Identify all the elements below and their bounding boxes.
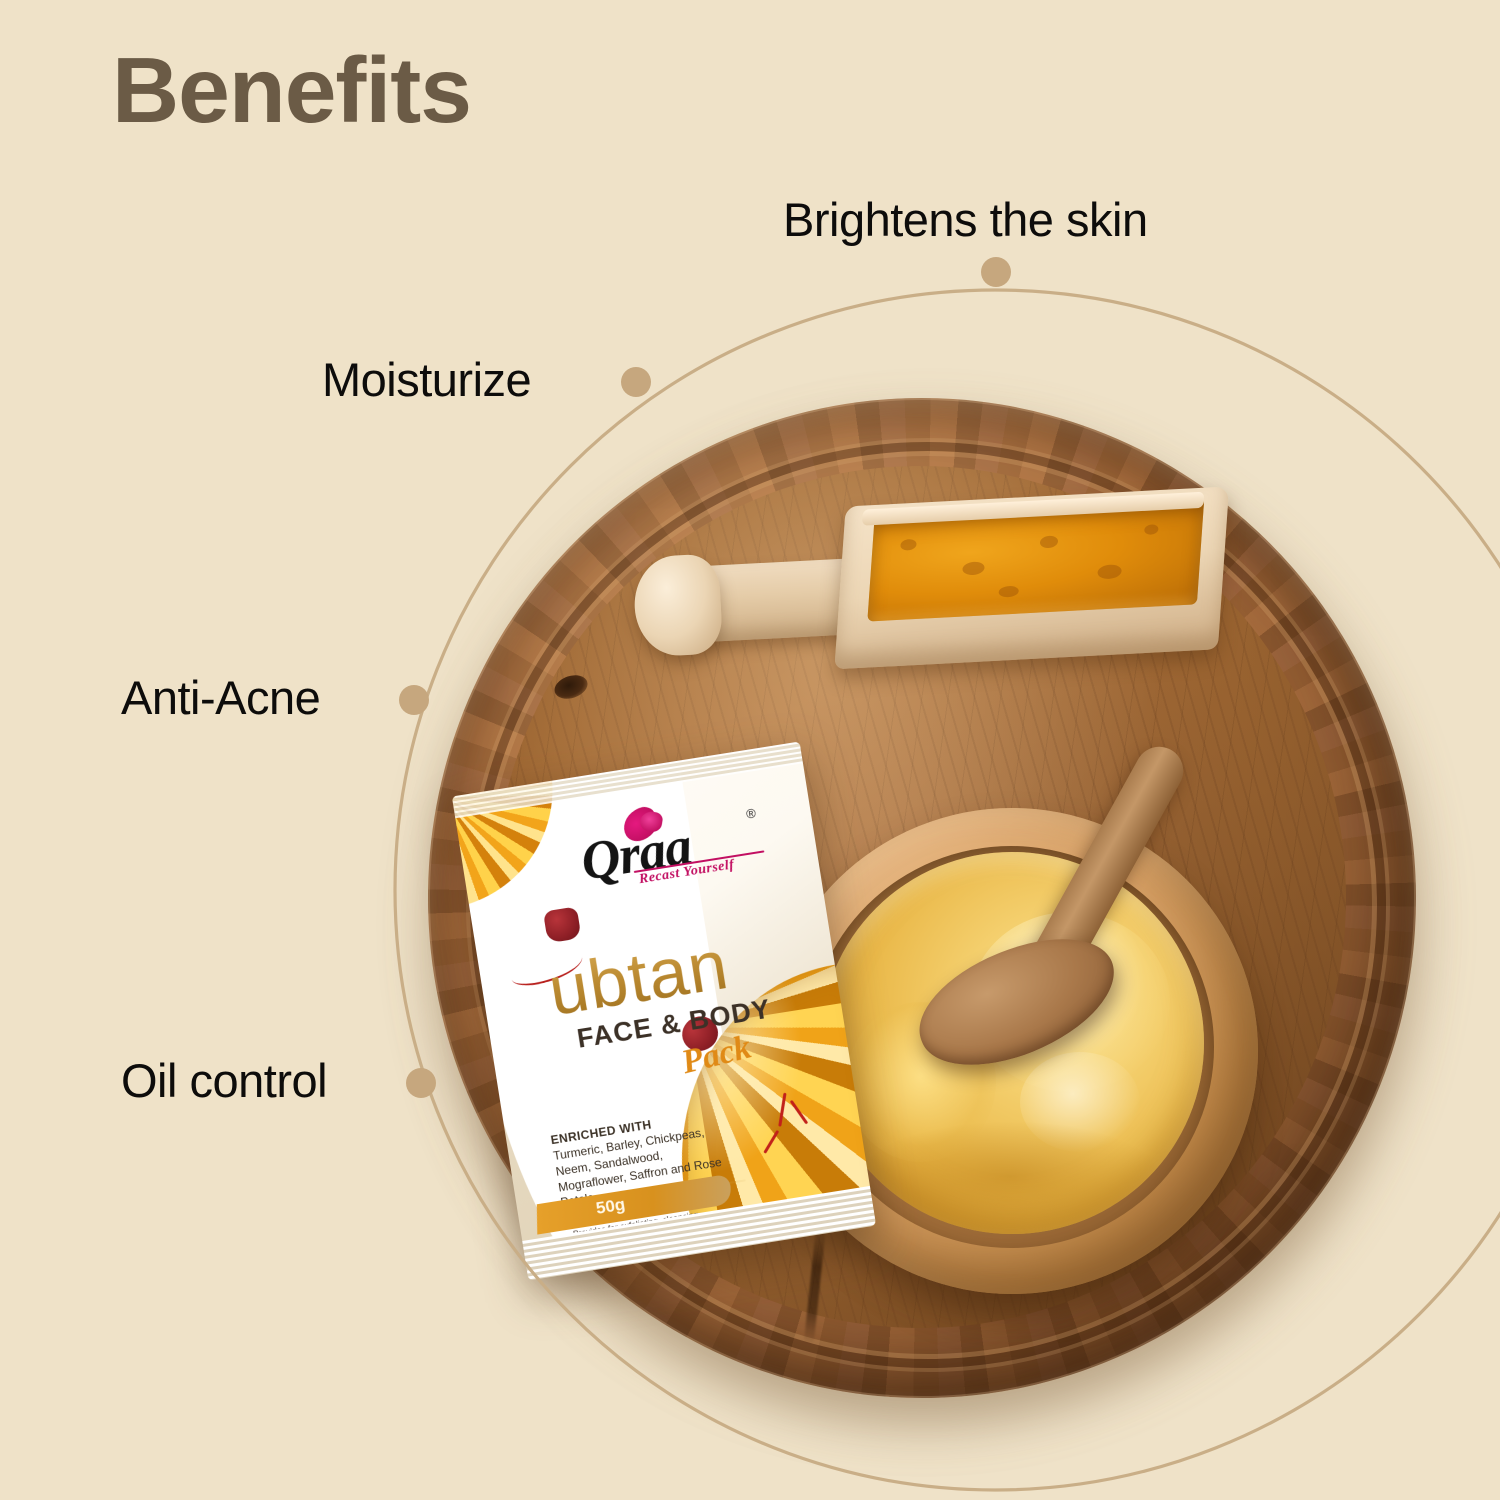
saffron-thread xyxy=(778,1093,786,1127)
benefit-label-anti-acne: Anti-Acne xyxy=(121,670,320,725)
benefit-dot-anti-acne[interactable] xyxy=(399,685,429,715)
benefit-dot-moisturize[interactable] xyxy=(621,367,651,397)
page-title: Benefits xyxy=(112,42,471,140)
infographic-canvas: Benefits xyxy=(0,0,1500,1500)
benefit-dot-oil-control[interactable] xyxy=(406,1068,436,1098)
saffron-thread xyxy=(790,1100,809,1125)
registered-mark: ® xyxy=(745,805,757,821)
saffron-thread xyxy=(763,1130,779,1154)
product-photo: Qraa ® Recast Yourself ubtan FACE & BODY… xyxy=(318,280,1500,1460)
benefit-label-brightens: Brightens the skin xyxy=(783,192,1148,247)
benefit-label-moisturize: Moisturize xyxy=(322,352,531,407)
scoop-handle-knob xyxy=(632,553,723,657)
paste-shadow xyxy=(860,1122,1160,1232)
turmeric-scoop xyxy=(629,464,1239,705)
benefit-label-oil-control: Oil control xyxy=(121,1053,327,1108)
benefit-dot-brightens[interactable] xyxy=(981,257,1011,287)
